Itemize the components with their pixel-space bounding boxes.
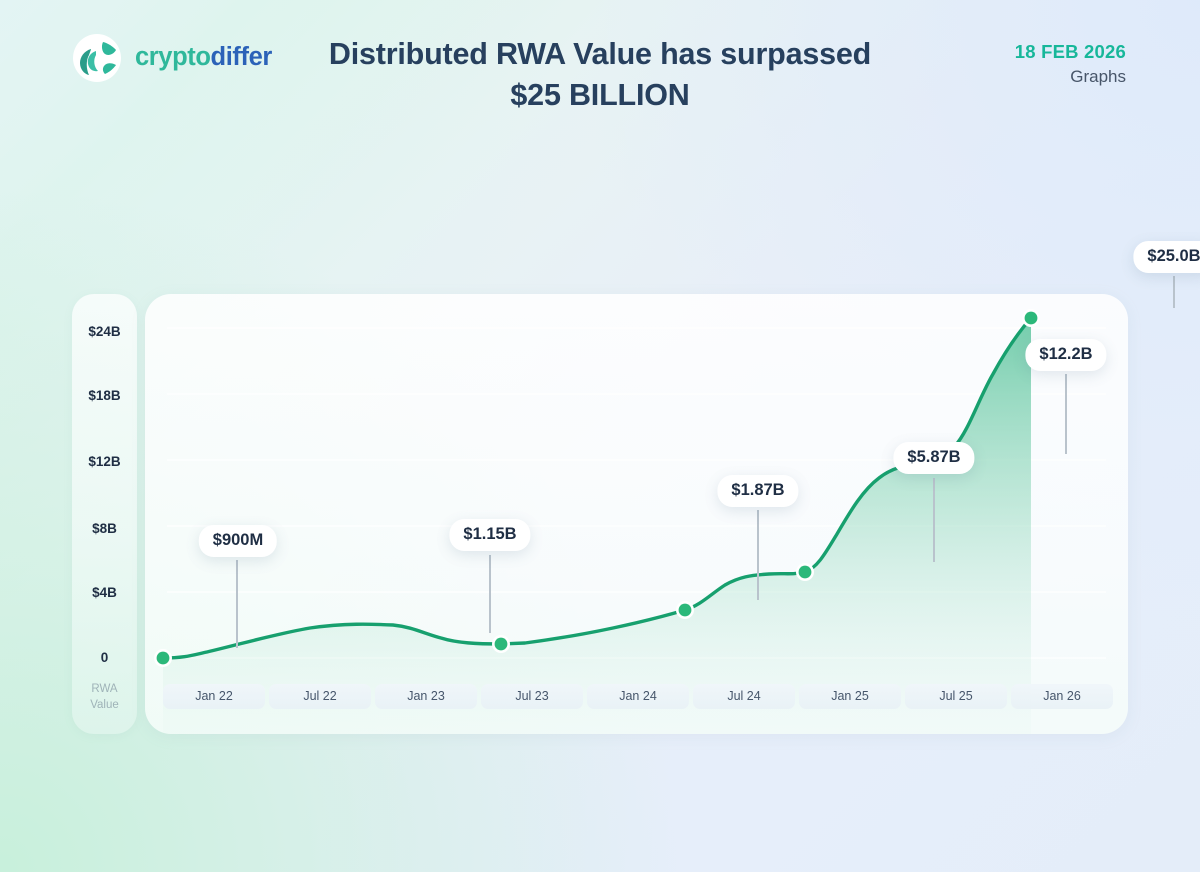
- leader-line-187b: [757, 510, 759, 600]
- callout-122b: $12.2B: [1025, 339, 1106, 371]
- y-tick-4b: $4B: [72, 585, 137, 600]
- header-meta: 18 FEB 2026 Graphs: [1015, 40, 1126, 90]
- page-title: Distributed RWA Value has surpassed $25 …: [300, 34, 900, 115]
- y-tick-0: 0: [72, 650, 137, 665]
- infographic-canvas: cryptodiffer Distributed RWA Value has s…: [0, 0, 1200, 872]
- publish-date: 18 FEB 2026: [1015, 40, 1126, 63]
- y-tick-18b: $18B: [72, 388, 137, 403]
- brand-differ-text: differ: [211, 43, 272, 71]
- header: cryptodiffer Distributed RWA Value has s…: [0, 0, 1200, 128]
- rwa-area-chart: [145, 294, 1128, 734]
- x-label-jan24: Jan 24: [587, 684, 689, 709]
- x-label-jul23: Jul 23: [481, 684, 583, 709]
- y-tick-12b: $12B: [72, 454, 137, 469]
- brand-crypto-text: crypto: [135, 43, 211, 71]
- x-label-jul24: Jul 24: [693, 684, 795, 709]
- marker-jan24: [676, 601, 694, 619]
- x-label-jan22: Jan 22: [163, 684, 265, 709]
- marker-jan23: [492, 635, 510, 653]
- y-axis-panel: $24B $18B $12B $8B $4B 0 RWAValue: [72, 294, 137, 734]
- chart-zone: $24B $18B $12B $8B $4B 0 RWAValue: [72, 294, 1128, 734]
- marker-jan22: [154, 649, 172, 667]
- y-tick-24b: $24B: [72, 324, 137, 339]
- y-axis-caption: RWAValue: [72, 682, 137, 713]
- plot-panel: Jan 22 Jul 22 Jan 23 Jul 23 Jan 24 Jul 2…: [145, 294, 1128, 734]
- callout-187b: $1.87B: [717, 475, 798, 507]
- callout-115b: $1.15B: [449, 519, 530, 551]
- callout-900m: $900M: [199, 525, 277, 557]
- y-tick-8b: $8B: [72, 521, 137, 536]
- leader-line-587b: [933, 478, 935, 562]
- x-axis-labels: Jan 22 Jul 22 Jan 23 Jul 23 Jan 24 Jul 2…: [163, 684, 1113, 709]
- cryptodiffer-logo-icon: [72, 33, 122, 83]
- leader-line-900m: [236, 560, 238, 648]
- leader-line-250b: [1173, 276, 1175, 308]
- x-label-jan23: Jan 23: [375, 684, 477, 709]
- x-label-jul25: Jul 25: [905, 684, 1007, 709]
- callout-250b: $25.0B: [1133, 241, 1200, 273]
- x-label-jul22: Jul 22: [269, 684, 371, 709]
- section-label: Graphs: [1015, 65, 1126, 90]
- leader-line-122b: [1065, 374, 1067, 454]
- leader-line-115b: [489, 555, 491, 633]
- marker-jan25: [796, 563, 814, 581]
- plot-canvas: [145, 294, 1128, 734]
- brand-wordmark: cryptodiffer: [135, 45, 272, 71]
- x-label-jan25: Jan 25: [799, 684, 901, 709]
- callout-587b: $5.87B: [893, 442, 974, 474]
- marker-jan26: [1022, 309, 1040, 327]
- x-label-jan26: Jan 26: [1011, 684, 1113, 709]
- brand-logo: cryptodiffer: [72, 33, 272, 83]
